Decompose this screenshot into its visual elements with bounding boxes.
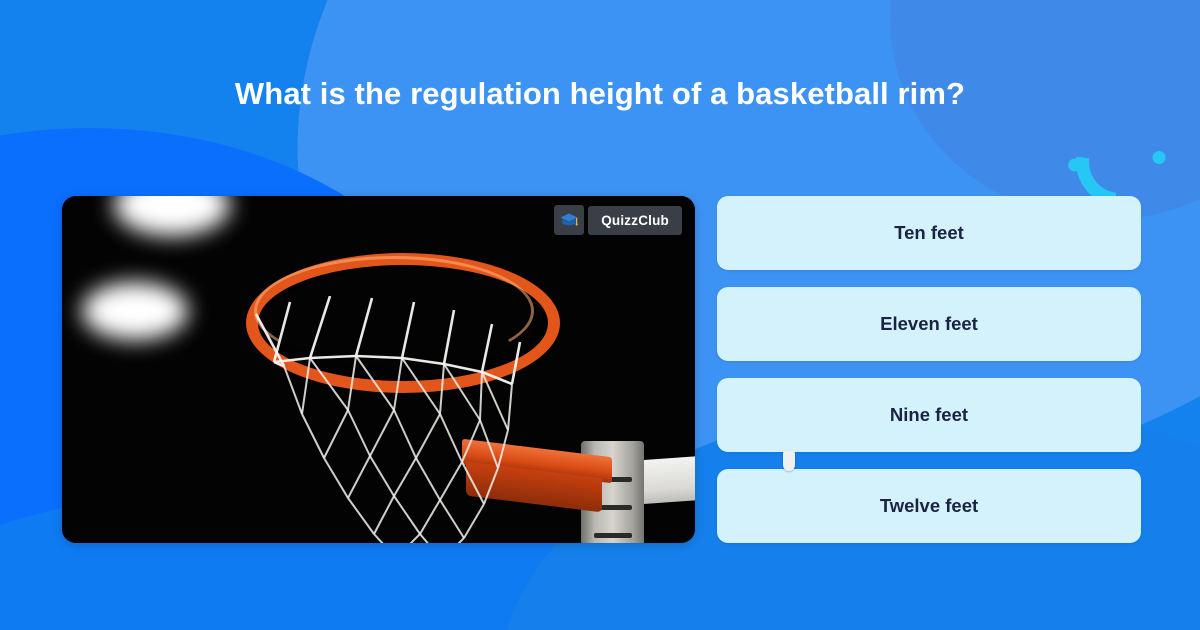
graduation-cap-icon [554, 205, 584, 235]
question-image-card: QuizzClub [62, 196, 695, 543]
answer-option-1[interactable]: Ten feet [717, 196, 1141, 270]
answer-option-label: Eleven feet [880, 313, 978, 335]
cursor-pin-marker [783, 451, 795, 471]
answer-option-2[interactable]: Eleven feet [717, 287, 1141, 361]
arena-light-icon [114, 196, 230, 236]
arena-light-icon [82, 282, 188, 340]
basketball-net [244, 296, 544, 543]
answer-option-3[interactable]: Nine feet [717, 378, 1141, 452]
answer-options-list: Ten feet Eleven feet Nine feet Twelve fe… [717, 196, 1141, 543]
watermark-label: QuizzClub [588, 206, 682, 235]
quiz-card: What is the regulation height of a baske… [0, 0, 1200, 630]
page-title: What is the regulation height of a baske… [0, 72, 1200, 116]
basketball-hoop-photo: QuizzClub [62, 196, 695, 543]
answer-option-label: Nine feet [890, 404, 968, 426]
answer-option-4[interactable]: Twelve feet [717, 469, 1141, 543]
answer-option-label: Twelve feet [880, 495, 978, 517]
watermark-badge: QuizzClub [554, 205, 682, 235]
answer-option-label: Ten feet [894, 222, 964, 244]
